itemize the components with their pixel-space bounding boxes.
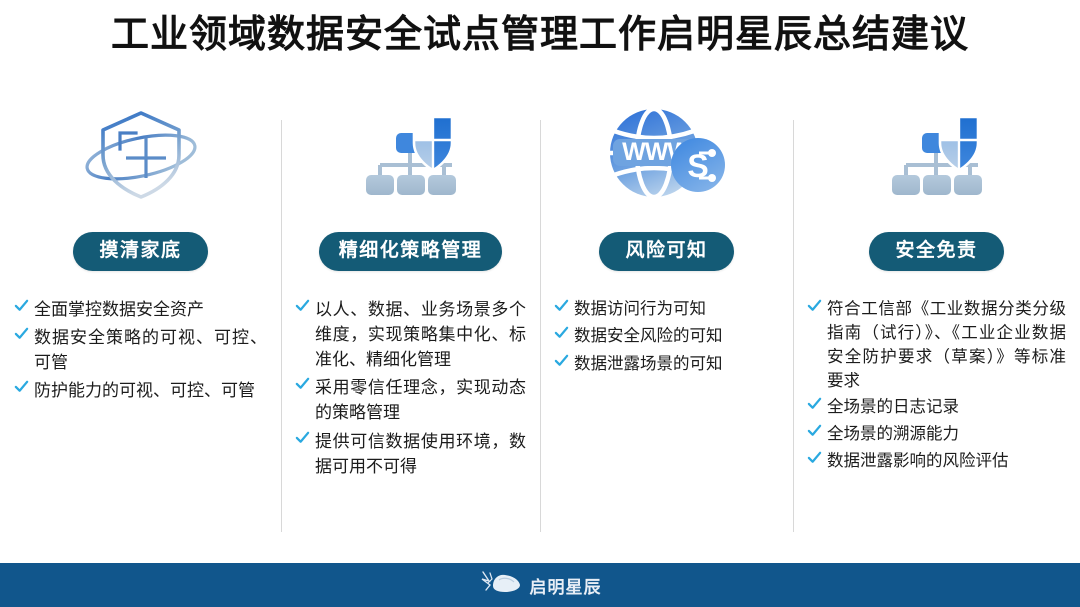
check-icon bbox=[14, 379, 29, 394]
check-icon bbox=[554, 353, 569, 368]
pill-label-moqing-jiadi[interactable]: 摸清家底 bbox=[73, 232, 207, 271]
bullet-text: 以人、数据、业务场景多个维度，实现策略集中化、标准化、精细化管理 bbox=[315, 300, 526, 369]
bullet-text: 数据泄露影响的风险评估 bbox=[827, 451, 1009, 470]
check-icon bbox=[807, 450, 822, 465]
column-anquan-mianze: 安全免责 符合工信部《工业数据分类分级指南（试行）》、《工业企业数据安全防护要求… bbox=[793, 96, 1080, 546]
brand-name: 启明星辰 bbox=[530, 573, 602, 598]
bullet-text: 提供可信数据使用环境，数据可用不可得 bbox=[315, 432, 526, 476]
column-moqing-jiadi: 摸清家底 全面掌控数据安全资产 数据安全策略的可视、可控、可管 bbox=[0, 96, 281, 546]
bullet-text: 数据泄露场景的可知 bbox=[574, 354, 723, 373]
bullet-item: 提供可信数据使用环境，数据可用不可得 bbox=[295, 429, 526, 479]
check-icon bbox=[807, 396, 822, 411]
icon-container bbox=[878, 100, 996, 210]
network-shield-icon bbox=[878, 107, 996, 204]
shield-orbit-plus-icon bbox=[78, 105, 204, 206]
check-icon bbox=[807, 298, 822, 313]
bullet-item: 数据泄露影响的风险评估 bbox=[807, 449, 1066, 473]
bullet-item: 以人、数据、业务场景多个维度，实现策略集中化、标准化、精细化管理 bbox=[295, 297, 526, 372]
bullet-item: 符合工信部《工业数据分类分级指南（试行）》、《工业企业数据安全防护要求（草案）》… bbox=[807, 297, 1066, 393]
title-container: 工业领域数据安全试点管理工作启明星辰总结建议 bbox=[0, 14, 1080, 58]
bullet-item: 防护能力的可视、可控、可管 bbox=[14, 378, 267, 403]
bullet-text: 防护能力的可视、可控、可管 bbox=[34, 381, 255, 400]
bullet-list-1: 全面掌控数据安全资产 数据安全策略的可视、可控、可管 防护能力的可视、可控、可管 bbox=[14, 297, 267, 407]
bullet-item: 数据安全策略的可视、可控、可管 bbox=[14, 325, 267, 375]
pill-label-jingxihua-celue-guanli[interactable]: 精细化策略管理 bbox=[319, 232, 503, 271]
bullet-item: 数据安全风险的可知 bbox=[554, 324, 779, 348]
bullet-item: 数据访问行为可知 bbox=[554, 297, 779, 321]
bullet-text: 全场景的溯源能力 bbox=[827, 424, 959, 443]
brand-logo: 启明星辰 bbox=[479, 570, 602, 601]
check-icon bbox=[554, 298, 569, 313]
slide-root: 工业领域数据安全试点管理工作启明星辰总结建议 bbox=[0, 0, 1080, 607]
network-shield-icon bbox=[352, 107, 470, 204]
check-icon bbox=[807, 423, 822, 438]
bullet-text: 数据安全策略的可视、可控、可管 bbox=[34, 328, 267, 372]
check-icon bbox=[554, 325, 569, 340]
pill-label-anquan-mianze[interactable]: 安全免责 bbox=[869, 232, 1003, 271]
bullet-text: 数据安全风险的可知 bbox=[574, 326, 723, 345]
globe-www-s-icon: WWW S bbox=[599, 105, 735, 206]
column-fengxian-kezhi: WWW S 风险可知 数据访问行 bbox=[540, 96, 793, 546]
check-icon bbox=[295, 298, 310, 313]
bullet-item: 采用零信任理念，实现动态的策略管理 bbox=[295, 375, 526, 425]
bullet-text: 全面掌控数据安全资产 bbox=[34, 300, 204, 319]
bullet-text: 数据访问行为可知 bbox=[574, 299, 706, 318]
bullet-text: 全场景的日志记录 bbox=[827, 397, 959, 416]
icon-container bbox=[352, 100, 470, 210]
bullet-list-2: 以人、数据、业务场景多个维度，实现策略集中化、标准化、精细化管理 采用零信任理念… bbox=[295, 297, 526, 482]
footer-bar: 启明星辰 bbox=[0, 563, 1080, 607]
pill-label-fengxian-kezhi[interactable]: 风险可知 bbox=[599, 232, 733, 271]
page-title: 工业领域数据安全试点管理工作启明星辰总结建议 bbox=[111, 14, 969, 58]
check-icon bbox=[14, 298, 29, 313]
bullet-item: 全面掌控数据安全资产 bbox=[14, 297, 267, 322]
icon-container: WWW S bbox=[599, 100, 735, 210]
bullet-list-3: 数据访问行为可知 数据安全风险的可知 数据泄露场景的可知 bbox=[554, 297, 779, 379]
bullet-list-4: 符合工信部《工业数据分类分级指南（试行）》、《工业企业数据安全防护要求（草案）》… bbox=[807, 297, 1066, 476]
column-jingxihua-celue-guanli: 精细化策略管理 以人、数据、业务场景多个维度，实现策略集中化、标准化、精细化管理… bbox=[281, 96, 540, 546]
bullet-item: 全场景的日志记录 bbox=[807, 395, 1066, 419]
content-columns: 摸清家底 全面掌控数据安全资产 数据安全策略的可视、可控、可管 bbox=[0, 96, 1080, 546]
check-icon bbox=[295, 376, 310, 391]
bullet-text: 采用零信任理念，实现动态的策略管理 bbox=[315, 378, 526, 422]
icon-container bbox=[78, 100, 204, 210]
check-icon bbox=[14, 326, 29, 341]
bullet-item: 全场景的溯源能力 bbox=[807, 422, 1066, 446]
qiming-star-logo-icon bbox=[479, 570, 523, 601]
bullet-item: 数据泄露场景的可知 bbox=[554, 352, 779, 376]
check-icon bbox=[295, 430, 310, 445]
bullet-text: 符合工信部《工业数据分类分级指南（试行）》、《工业企业数据安全防护要求（草案）》… bbox=[827, 299, 1066, 390]
